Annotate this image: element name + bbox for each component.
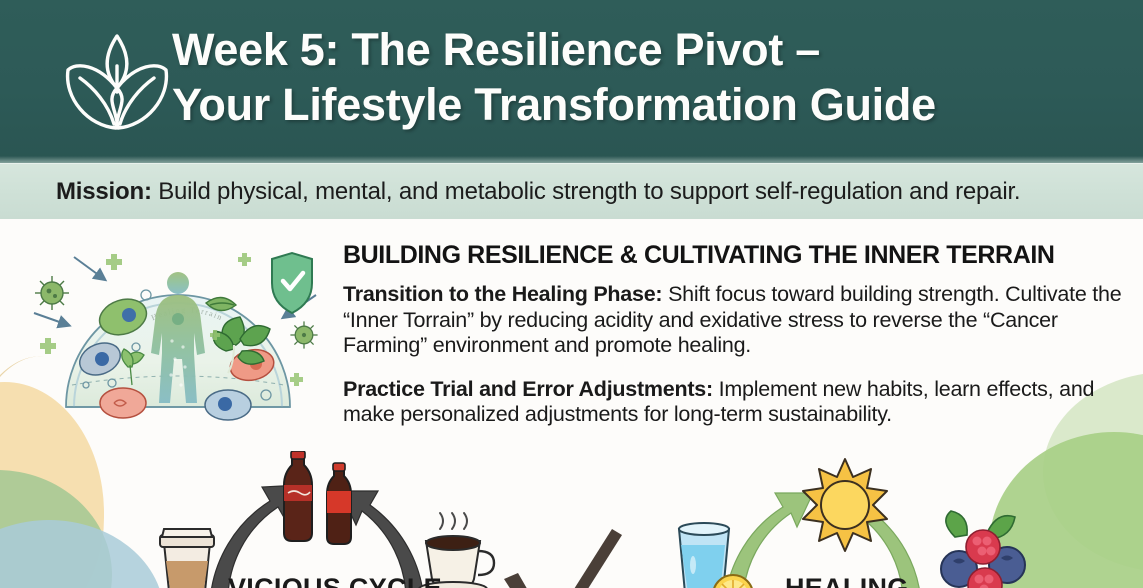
paragraph-lead: Transition to the Healing Phase: (343, 282, 662, 306)
paragraph-lead: Practice Trial and Error Adjustments: (343, 377, 713, 401)
mission-body: Build physical, mental, and metabolic st… (152, 178, 1021, 205)
paragraph-transition: Transition to the Healing Phase: Shift f… (343, 282, 1133, 359)
large-checkmark (498, 521, 668, 588)
paragraph-practice: Practice Trial and Error Adjustments: Im… (343, 377, 1133, 428)
page-title: Week 5: The Resilience Pivot – Your Life… (172, 22, 1072, 132)
infographic-page: Week 5: The Resilience Pivot – Your Life… (0, 0, 1143, 588)
section-heading: BUILDING RESILIENCE & CULTIVATING THE IN… (343, 241, 1133, 270)
vicious-cycle-diagram: VICIOUS CYCLE (150, 451, 530, 588)
vicious-cycle-label: VICIOUS CYCLE (228, 573, 442, 588)
healing-cycle-label: HEALING (785, 573, 909, 588)
inner-terrain-dome-illustration: Healing Terrain (28, 235, 328, 431)
main-content: Healing Terrain (0, 219, 1143, 588)
mission-label: Mission: (56, 178, 152, 205)
healing-cycle-diagram: HEALING (655, 451, 1035, 588)
leaf-plant-icon (58, 22, 176, 142)
mission-banner: Mission: Build physical, mental, and met… (0, 163, 1143, 219)
page-header: Week 5: The Resilience Pivot – Your Life… (0, 0, 1143, 163)
text-copy-block: BUILDING RESILIENCE & CULTIVATING THE IN… (343, 241, 1133, 428)
mission-text: Mission: Build physical, mental, and met… (56, 178, 1020, 206)
